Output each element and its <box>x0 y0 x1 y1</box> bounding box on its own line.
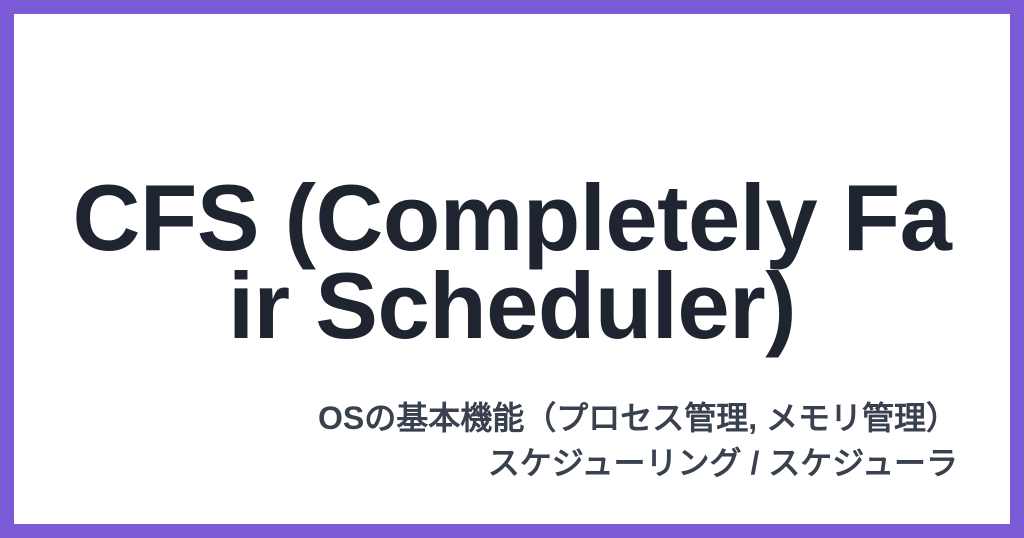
title-block: CFS (Completely Fair Scheduler) <box>62 174 962 350</box>
subtitle-line-1: OSの基本機能（プロセス管理, メモリ管理） <box>198 396 958 441</box>
slide-content-area: CFS (Completely Fair Scheduler) OSの基本機能（… <box>14 14 1010 524</box>
slide-title: CFS (Completely Fair Scheduler) <box>62 174 962 350</box>
subtitle-line-2: スケジューリング / スケジューラ <box>198 441 958 486</box>
slide-root: CFS (Completely Fair Scheduler) OSの基本機能（… <box>0 0 1024 538</box>
subtitle-block: OSの基本機能（プロセス管理, メモリ管理） スケジューリング / スケジューラ <box>198 396 958 486</box>
